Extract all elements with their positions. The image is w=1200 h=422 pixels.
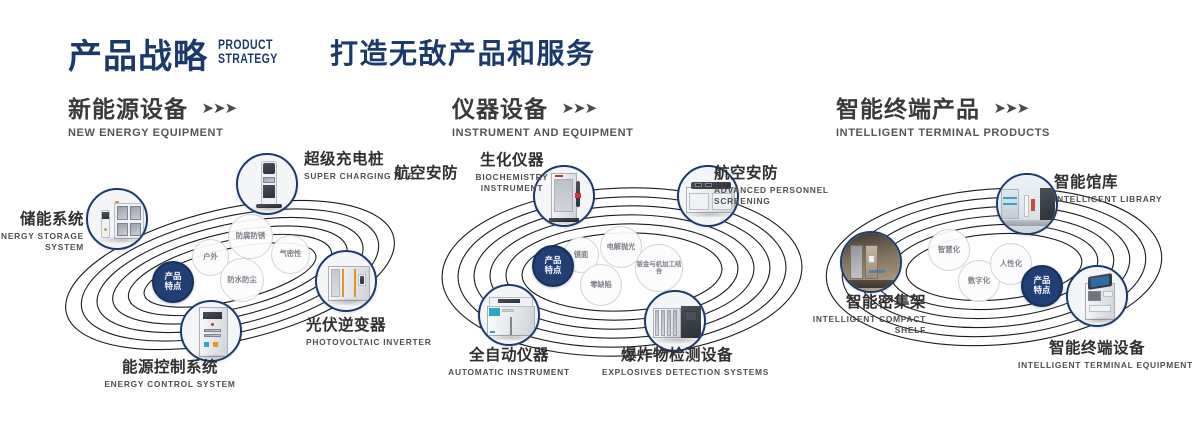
terminal-kiosk-photo: [1068, 267, 1126, 325]
energy-storage-cabinet-photo: [88, 190, 146, 248]
explosives-detection-photo: [646, 292, 704, 350]
pv-inverter-photo: [317, 252, 375, 310]
section-title-en: INTELLIGENT TERMINAL PRODUCTS: [836, 128, 1050, 139]
node-photo-explosives-detection[interactable]: [644, 290, 706, 352]
node-label-explosives-detection: 爆炸物检测设备 EXPLOSIVES DETECTION SYSTEMS: [602, 348, 752, 378]
diagram-new-energy: 户外 防腐防锈 防水防尘 气密性 产品 特点: [40, 150, 420, 380]
chevron-right-icon: ➤➤➤: [201, 99, 236, 117]
node-photo-terminal-kiosk[interactable]: [1066, 265, 1128, 327]
node-label-intelligent-library: 智能馆库 INTELLIGENT LIBRARY: [1054, 175, 1194, 205]
section-title-cn: 新能源设备: [68, 98, 188, 121]
core-bubble-product-features: 产品 特点: [1021, 265, 1063, 307]
feature-bubble-sheetmetal-machining: 钣金与机加工结合: [635, 244, 683, 292]
section-title-en: INSTRUMENT AND EQUIPMENT: [452, 128, 633, 139]
section-title-instrument: 仪器设备 ➤➤➤ INSTRUMENT AND EQUIPMENT: [452, 98, 633, 139]
page-title-english-line2: STRATEGY: [218, 52, 278, 66]
energy-control-cabinet-photo: [182, 302, 240, 360]
page-title-english-line1: PRODUCT: [218, 38, 278, 52]
chevron-right-icon: ➤➤➤: [561, 99, 596, 117]
page-header: 产品战略 PRODUCT STRATEGY 打造无敌产品和服务: [0, 18, 1200, 80]
page-title: 产品战略: [68, 40, 208, 74]
section-title-intelligent-terminal: 智能终端产品 ➤➤➤ INTELLIGENT TERMINAL PRODUCTS: [836, 98, 1050, 139]
node-label-energy-storage: 储能系统 ENERGY STORAGE SYSTEM: [0, 212, 84, 252]
core-bubble-product-features: 产品 特点: [152, 261, 194, 303]
core-bubble-product-features: 产品 特点: [532, 245, 574, 287]
diagram-intelligent-terminal: 智慧化 数字化 人性化 产品 特点: [818, 155, 1200, 385]
node-photo-automatic-instrument[interactable]: [478, 284, 540, 346]
node-photo-pv-inverter[interactable]: [315, 250, 377, 312]
section-title-cn: 仪器设备: [452, 98, 548, 121]
section-title-cn: 智能终端产品: [836, 98, 980, 121]
diagram-instrument: 镜面 电解抛光 钣金与机加工结合 零缺陷 产品 特点: [432, 150, 812, 380]
node-photo-energy-storage[interactable]: [86, 188, 148, 250]
node-label-pv-inverter: 光伏逆变器 PHOTOVOLTAIC INVERTER: [306, 318, 446, 348]
node-label-terminal-equipment: 智能终端设备 INTELLIGENT TERMINAL EQUIPMENT: [1018, 341, 1176, 371]
feature-bubble-airtight: 气密性: [271, 235, 310, 274]
automatic-instrument-photo: [480, 286, 538, 344]
node-photo-charging-hub[interactable]: [236, 153, 298, 215]
node-label-energy-control: 能源控制系统 ENERGY CONTROL SYSTEM: [80, 360, 260, 390]
node-label-automatic-instrument: 全自动仪器 AUTOMATIC INSTRUMENT: [439, 348, 579, 378]
node-photo-intelligent-library[interactable]: [996, 173, 1058, 235]
node-photo-compact-shelf[interactable]: [840, 231, 902, 293]
section-title-new-energy: 新能源设备 ➤➤➤ NEW ENERGY EQUIPMENT: [68, 98, 236, 139]
page-tagline: 打造无敌产品和服务: [330, 40, 596, 68]
chevron-right-icon: ➤➤➤: [993, 99, 1028, 117]
feature-bubble-waterproof: 防水防尘: [220, 258, 264, 302]
compact-shelf-photo: [842, 233, 900, 291]
section-title-en: NEW ENERGY EQUIPMENT: [68, 128, 236, 139]
node-photo-energy-control[interactable]: [180, 300, 242, 362]
charging-pile-photo: [238, 155, 296, 213]
node-label-compact-shelf: 智能密集架 INTELLIGENT COMPACT SHELF: [800, 295, 926, 335]
feature-bubble-anticorrosion: 防腐防锈: [228, 214, 273, 259]
intelligent-library-photo: [998, 175, 1056, 233]
node-label-biochemistry-instrument: 生化仪器 BIOCHEMISTRY INSTRUMENT: [446, 153, 578, 193]
page-title-english: PRODUCT STRATEGY: [218, 38, 278, 66]
feature-bubble-zero-defect: 零缺陷: [580, 264, 622, 306]
